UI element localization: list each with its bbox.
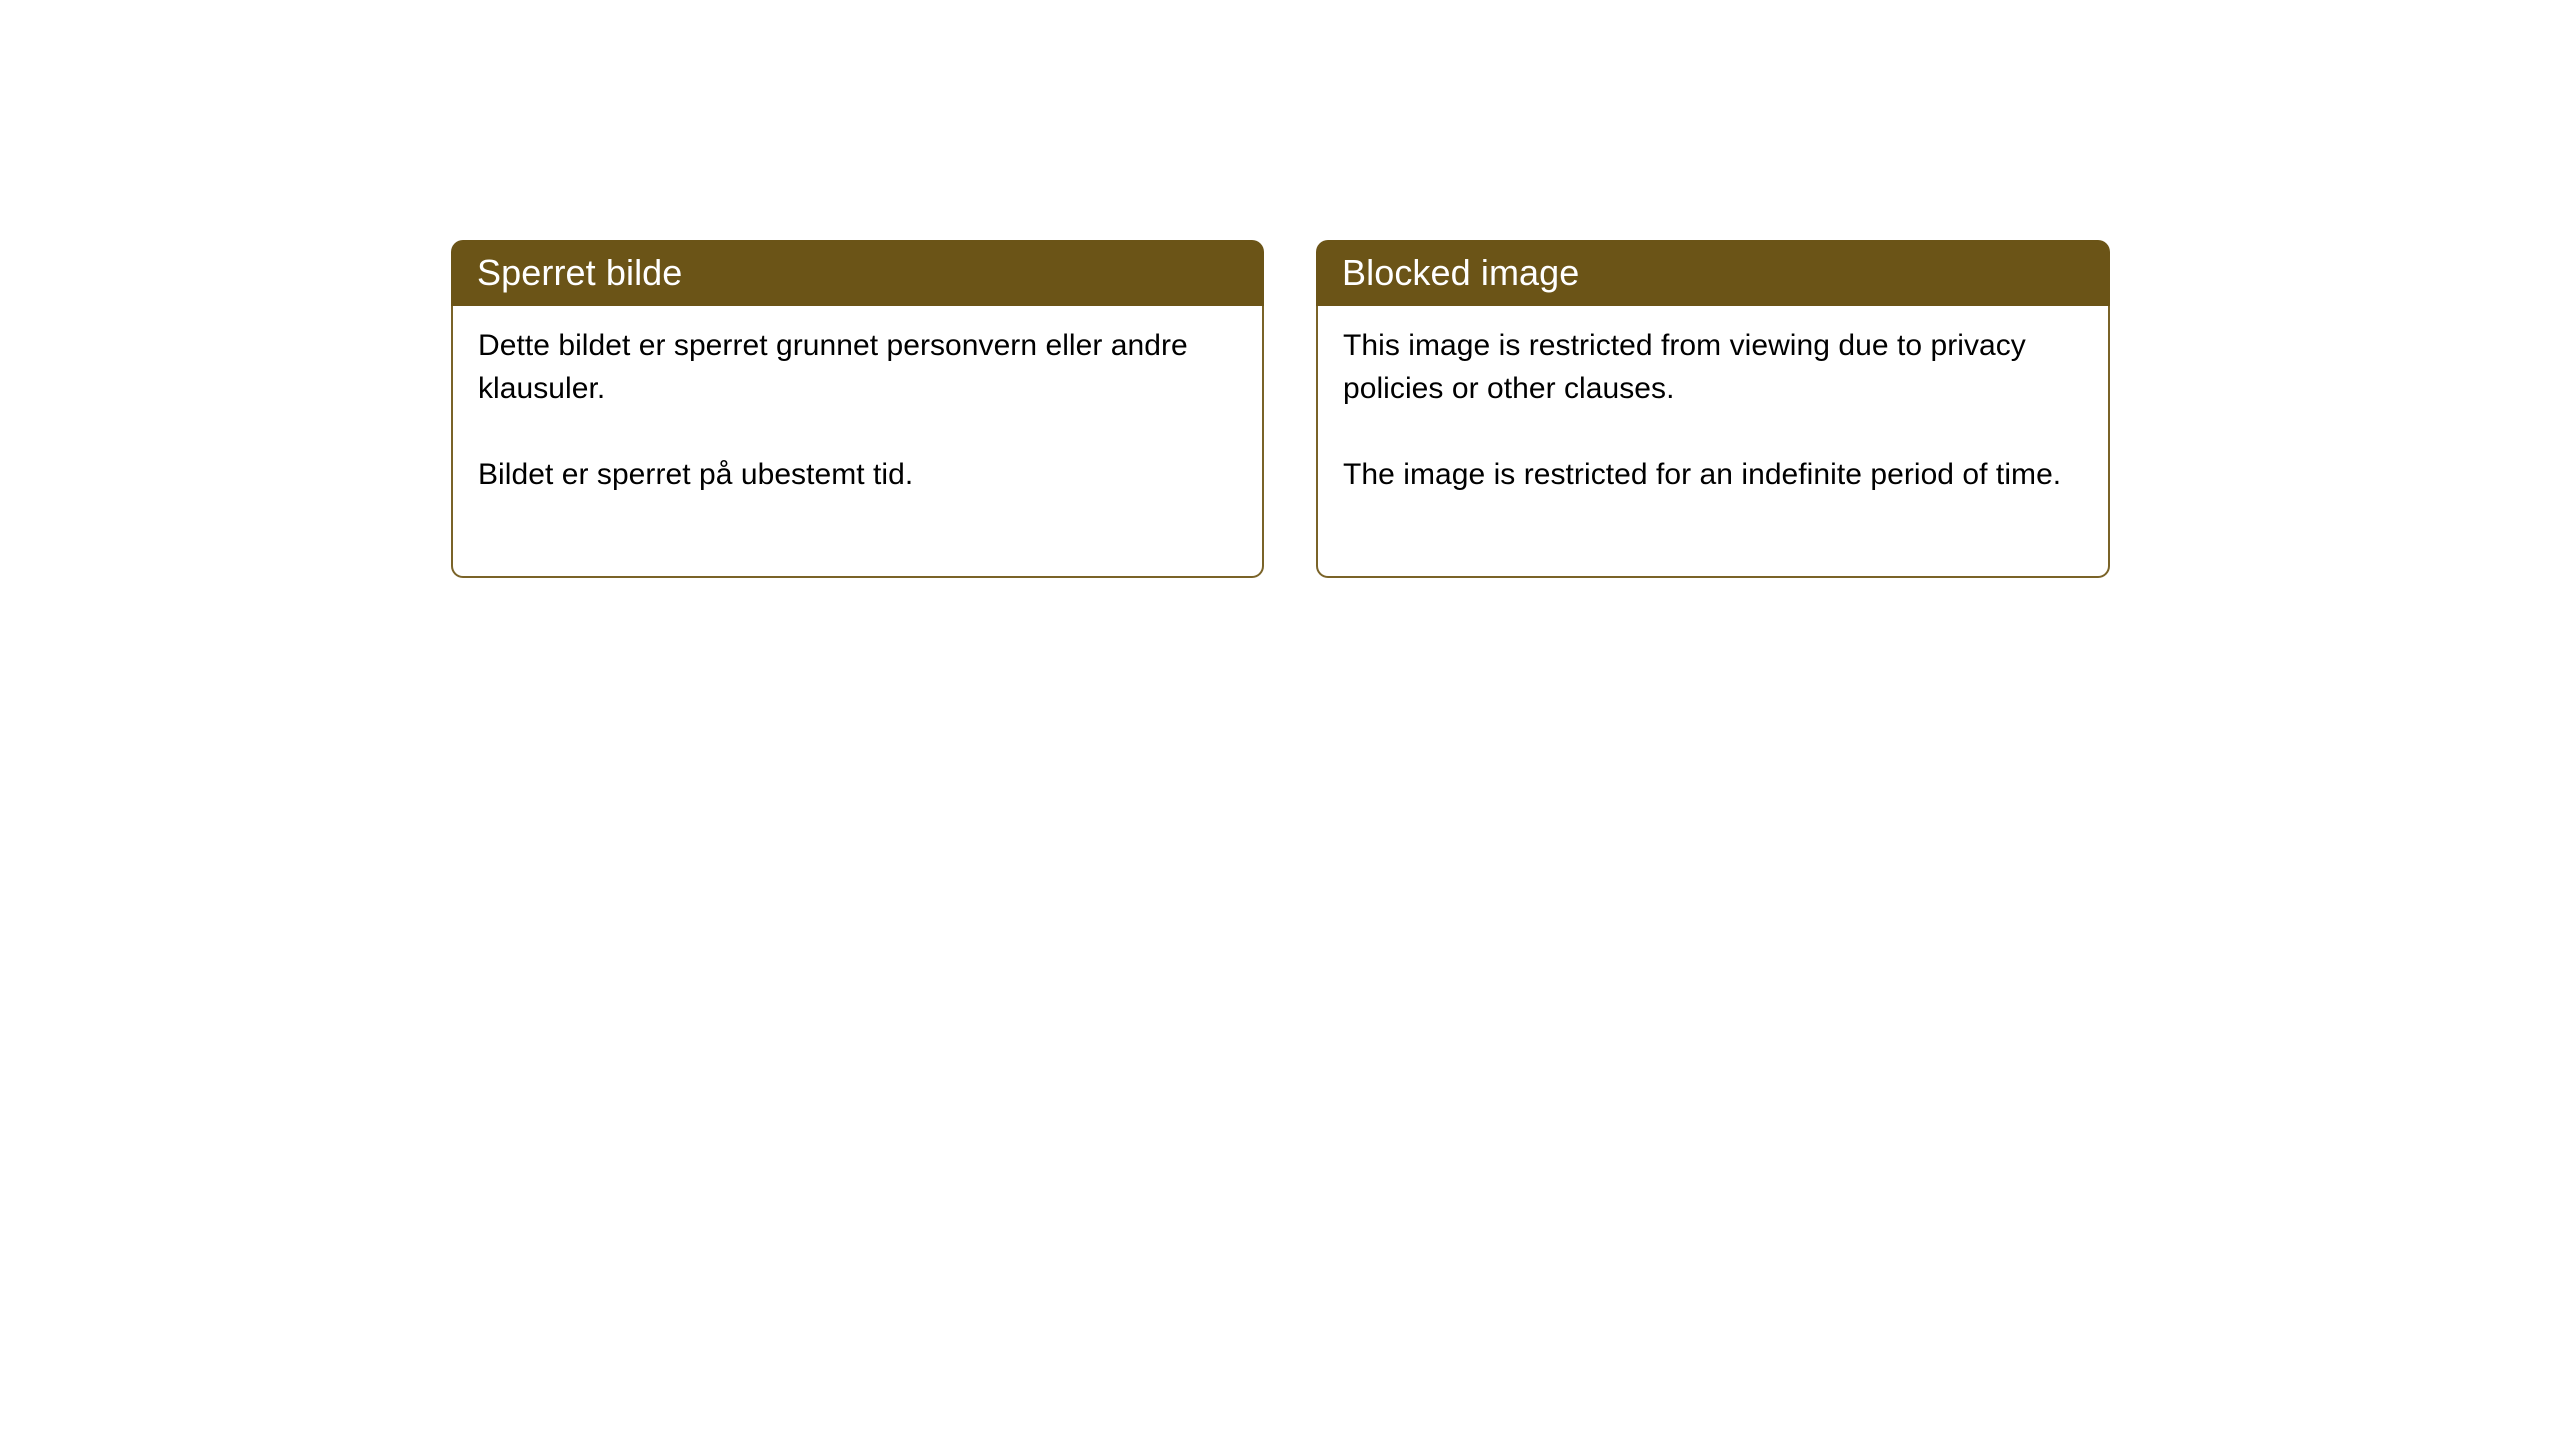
blocked-image-notice-en: Blocked image This image is restricted f… xyxy=(1316,240,2110,578)
panel-paragraph-no-2: Bildet er sperret på ubestemt tid. xyxy=(478,453,1238,496)
page-canvas: Sperret bilde Dette bildet er sperret gr… xyxy=(0,0,2560,1440)
panel-title-no: Sperret bilde xyxy=(477,253,682,293)
blocked-image-notice-no: Sperret bilde Dette bildet er sperret gr… xyxy=(451,240,1264,578)
panel-body-no: Dette bildet er sperret grunnet personve… xyxy=(451,306,1264,578)
panel-title-en: Blocked image xyxy=(1342,253,1579,293)
panel-body-en: This image is restricted from viewing du… xyxy=(1316,306,2110,578)
panel-header-no: Sperret bilde xyxy=(451,240,1264,306)
panel-header-en: Blocked image xyxy=(1316,240,2110,306)
panel-paragraph-en-2: The image is restricted for an indefinit… xyxy=(1343,453,2084,496)
panel-paragraph-no-1: Dette bildet er sperret grunnet personve… xyxy=(478,324,1238,410)
panel-paragraph-en-1: This image is restricted from viewing du… xyxy=(1343,324,2084,410)
